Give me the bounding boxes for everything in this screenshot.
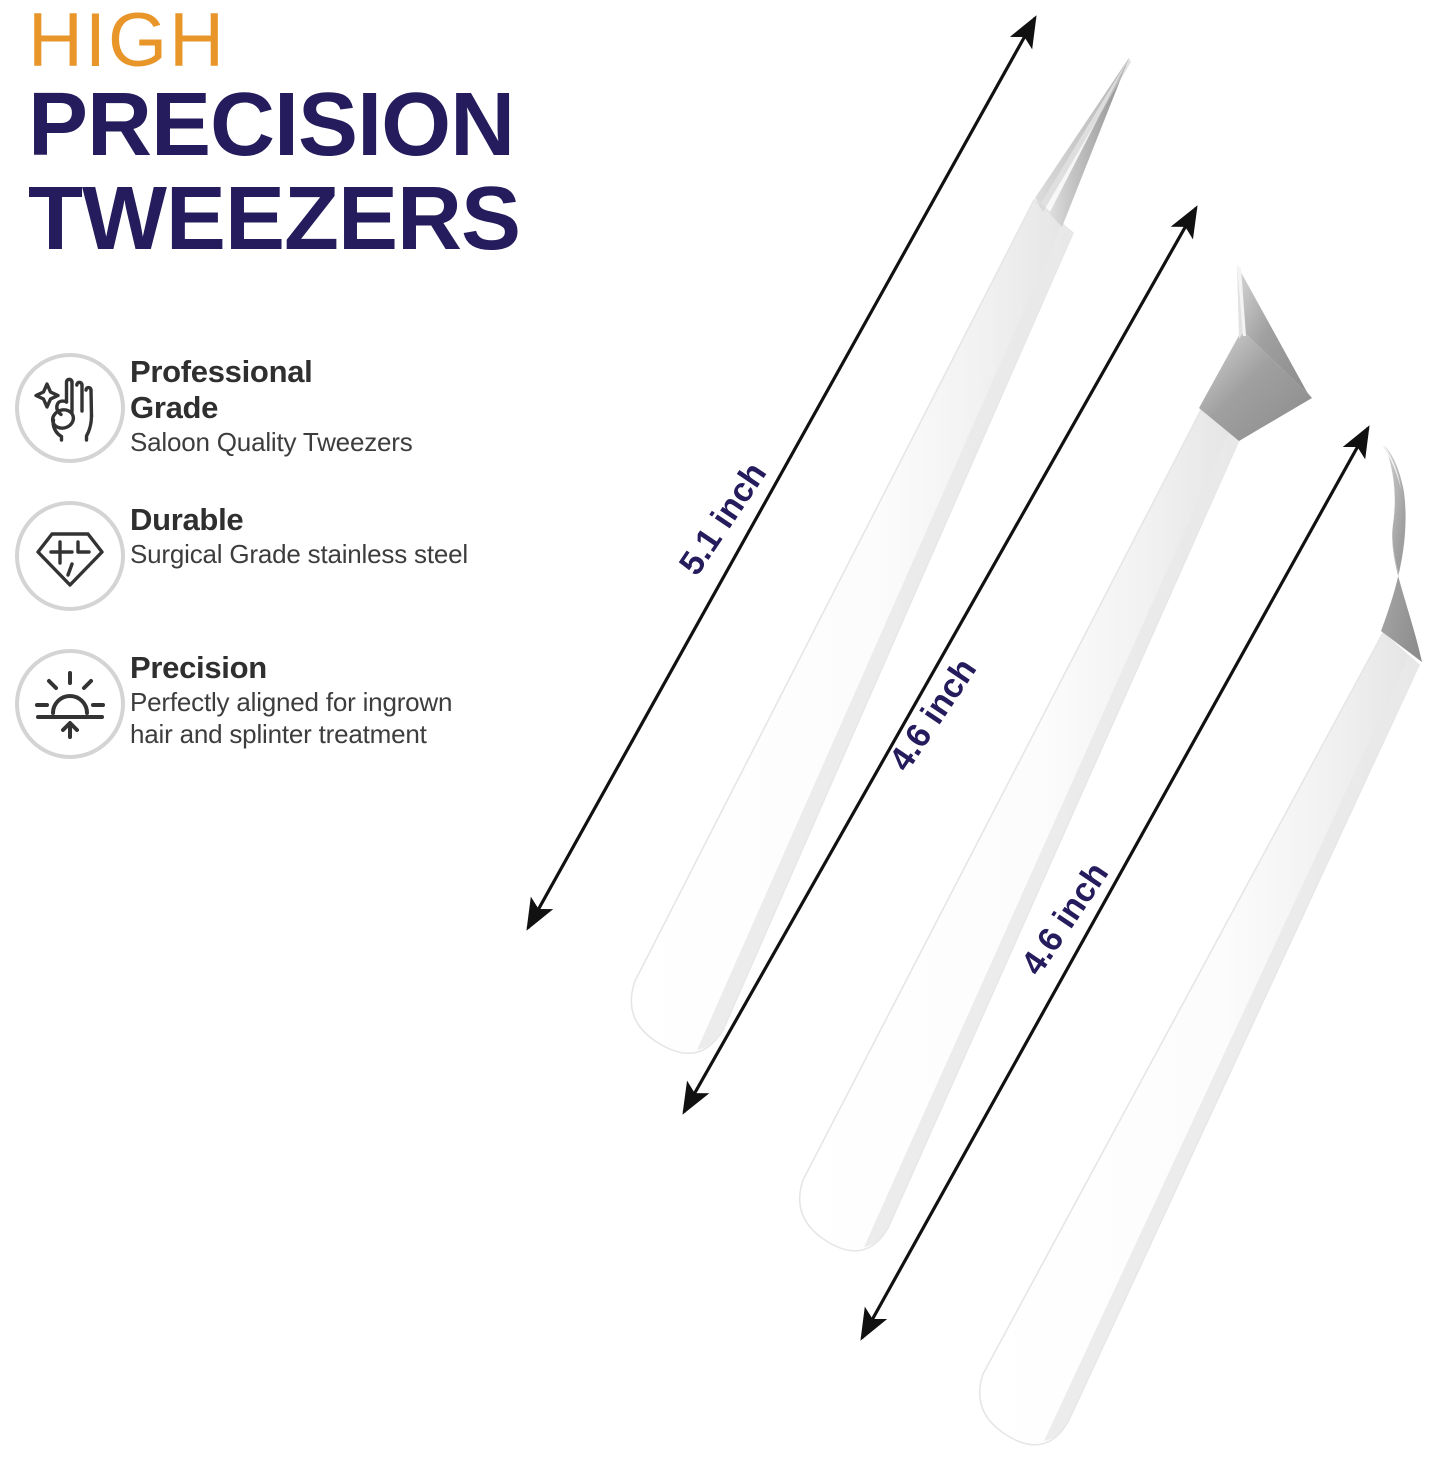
- feature-list: ProfessionalGrade Saloon Quality Tweezer…: [10, 348, 470, 764]
- feature-icon-wrap: [10, 496, 130, 616]
- feature-title: Precision: [130, 650, 470, 686]
- headline-word-tweezers: TWEEZERS: [28, 172, 678, 266]
- dimension-label-1: 5.1 inch: [672, 456, 775, 583]
- diamond-icon: [15, 501, 125, 611]
- feature-title-line2: Grade: [130, 390, 218, 425]
- feature-item-durable: Durable Surgical Grade stainless steel: [10, 496, 470, 616]
- feature-description: Saloon Quality Tweezers: [130, 426, 413, 458]
- feature-description: Perfectly aligned for ingrown hair and s…: [130, 686, 470, 750]
- sunrise-icon: [15, 649, 125, 759]
- headline-word-precision: PRECISION: [28, 78, 678, 172]
- dimension-arrow-3: [862, 428, 1368, 1338]
- feature-title-line1: Professional: [130, 354, 312, 389]
- page-title: HIGH PRECISION TWEEZERS: [28, 4, 678, 266]
- angled-tip-tweezer: [800, 265, 1312, 1251]
- feature-icon-wrap: [10, 644, 130, 764]
- dimension-label-3: 4.6 inch: [1014, 856, 1117, 983]
- feature-description: Surgical Grade stainless steel: [130, 538, 468, 570]
- headline-word-high: HIGH: [28, 4, 678, 78]
- feature-text: Durable Surgical Grade stainless steel: [130, 496, 468, 570]
- feature-icon-wrap: [10, 348, 130, 468]
- feature-item-professional-grade: ProfessionalGrade Saloon Quality Tweezer…: [10, 348, 470, 468]
- feature-text: ProfessionalGrade Saloon Quality Tweezer…: [130, 348, 413, 458]
- product-marketing-image: HIGH PRECISION TWEEZERS: [0, 0, 1445, 1476]
- dimension-arrow-2: [684, 208, 1196, 1112]
- ok-hand-sparkle-icon: [15, 353, 125, 463]
- feature-item-precision: Precision Perfectly aligned for ingrown …: [10, 644, 470, 764]
- feature-title: ProfessionalGrade: [130, 354, 413, 426]
- feature-title: Durable: [130, 502, 468, 538]
- dimension-label-2: 4.6 inch: [882, 652, 985, 779]
- feature-text: Precision Perfectly aligned for ingrown …: [130, 644, 470, 750]
